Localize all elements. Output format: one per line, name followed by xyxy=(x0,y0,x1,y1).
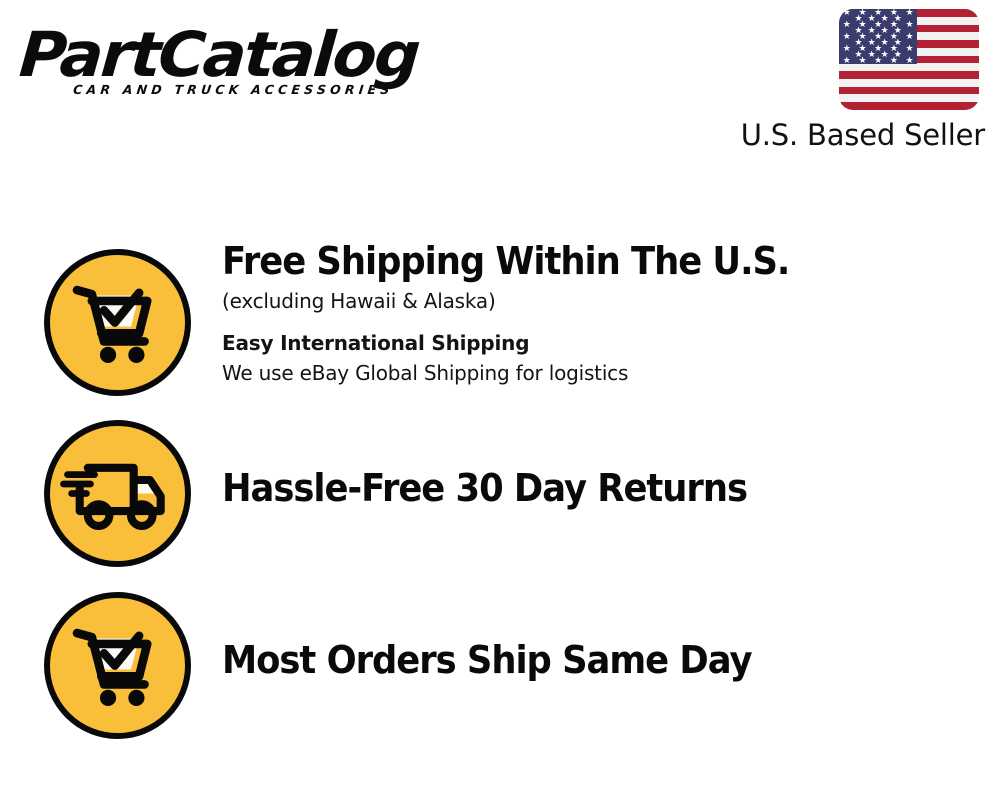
feature-text-block: Free Shipping Within The U.S. (excluding… xyxy=(222,249,992,388)
feature-text-block: Most Orders Ship Same Day xyxy=(222,592,992,682)
feature-text-block: Hassle-Free 30 Day Returns xyxy=(222,420,992,510)
brand-wordmark: PartCatalog xyxy=(17,22,511,88)
feature-row: Free Shipping Within The U.S. (excluding… xyxy=(0,249,1000,399)
delivery-truck-icon xyxy=(44,420,191,567)
flag-canton: ★★★★★ ★★★★★★ ★★★★★ ★★★★★★ ★★★★★ ★★★★★★ ★… xyxy=(839,9,917,64)
feature-row: Most Orders Ship Same Day xyxy=(0,592,1000,742)
brand-tagline: CAR AND TRUCK ACCESSORIES xyxy=(72,82,492,97)
shopping-cart-check-icon xyxy=(44,249,191,396)
brand-logo: PartCatalog CAR AND TRUCK ACCESSORIES xyxy=(22,22,492,117)
feature-subtext-exclusions: (excluding Hawaii & Alaska) xyxy=(222,287,992,316)
shopping-cart-check-icon xyxy=(44,592,191,739)
feature-subtext-international-title: Easy International Shipping xyxy=(222,329,992,358)
feature-heading: Most Orders Ship Same Day xyxy=(222,638,938,682)
feature-subtext-international-detail: We use eBay Global Shipping for logistic… xyxy=(222,359,992,388)
feature-row: Hassle-Free 30 Day Returns xyxy=(0,420,1000,570)
us-flag-badge: ★★★★★ ★★★★★★ ★★★★★ ★★★★★★ ★★★★★ ★★★★★★ ★… xyxy=(839,9,979,110)
feature-heading: Hassle-Free 30 Day Returns xyxy=(222,466,938,510)
feature-heading: Free Shipping Within The U.S. xyxy=(222,239,938,283)
us-flag-icon: ★★★★★ ★★★★★★ ★★★★★ ★★★★★★ ★★★★★ ★★★★★★ ★… xyxy=(839,9,979,110)
promo-banner: PartCatalog CAR AND TRUCK ACCESSORIES ★★… xyxy=(0,0,1000,800)
us-based-seller-label: U.S. Based Seller xyxy=(600,118,985,152)
